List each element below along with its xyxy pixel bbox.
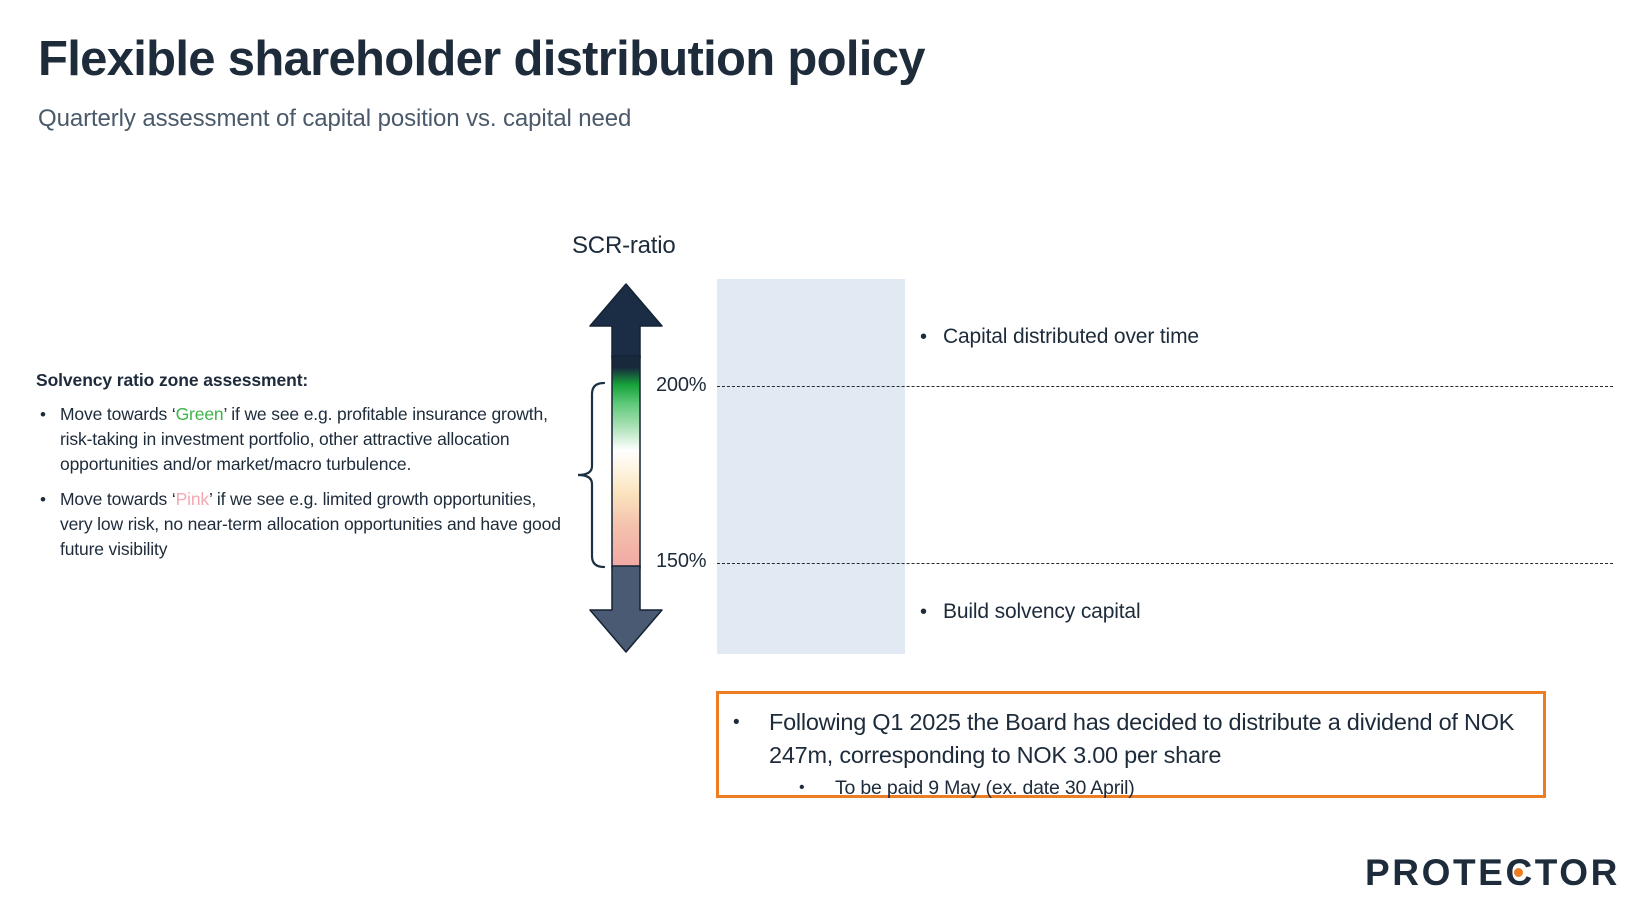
list-item: • Move towards ‘Pink’ if we see e.g. lim… [36, 487, 561, 562]
zone-bullet-text: Move towards ‘Pink’ if we see e.g. limit… [60, 487, 561, 562]
logo-c-wrap: C [1505, 852, 1534, 894]
list-item: • Following Q1 2025 the Board has decide… [733, 706, 1527, 772]
bullet-icon: • [920, 325, 943, 349]
bullet-icon: • [733, 706, 769, 739]
list-item: • To be paid 9 May (ex. date 30 April) [733, 774, 1527, 802]
tick-label-150: 150% [656, 550, 706, 573]
solvency-zone-panel: Solvency ratio zone assessment: • Move t… [36, 370, 561, 572]
annotation-text: Capital distributed over time [943, 325, 1199, 349]
bullet-icon: • [920, 600, 943, 624]
arrow-up-head [590, 284, 662, 358]
keyword-green: Green [176, 404, 224, 424]
zone-bullet-text: Move towards ‘Green’ if we see e.g. prof… [60, 402, 561, 477]
zone-assessment-heading: Solvency ratio zone assessment: [36, 370, 561, 391]
zone-bullet-pre: Move towards ‘ [60, 489, 176, 509]
scr-ratio-axis-label: SCR-ratio [572, 232, 676, 260]
zone-bullet-pre: Move towards ‘ [60, 404, 176, 424]
keyword-pink: Pink [176, 489, 209, 509]
gradient-bar [612, 356, 640, 568]
page-subtitle: Quarterly assessment of capital position… [38, 105, 631, 133]
dividend-statement: Following Q1 2025 the Board has decided … [769, 706, 1527, 772]
curly-brace-path [578, 383, 604, 567]
bullet-icon: • [36, 402, 60, 427]
arrow-down-head [590, 566, 662, 652]
capital-band-region [717, 279, 905, 654]
sub-bullet-icon: • [799, 774, 835, 802]
threshold-line-150 [717, 563, 1613, 564]
threshold-line-200 [717, 386, 1613, 387]
annotation-text: Build solvency capital [943, 600, 1140, 624]
protector-logo: PROTE C TOR [1365, 852, 1620, 894]
logo-text-part1: PROTE [1365, 852, 1505, 894]
zone-range-brace [572, 380, 606, 570]
dividend-callout-box: • Following Q1 2025 the Board has decide… [716, 691, 1546, 798]
payment-date-note: To be paid 9 May (ex. date 30 April) [835, 774, 1527, 802]
page-title: Flexible shareholder distribution policy [38, 34, 925, 85]
logo-text-part3: TOR [1535, 852, 1620, 894]
list-item: • Move towards ‘Green’ if we see e.g. pr… [36, 402, 561, 477]
bullet-icon: • [36, 487, 60, 512]
tick-label-200: 200% [656, 374, 706, 397]
annotation-capital-distributed: • Capital distributed over time [920, 325, 1199, 349]
annotation-build-solvency: • Build solvency capital [920, 600, 1140, 624]
